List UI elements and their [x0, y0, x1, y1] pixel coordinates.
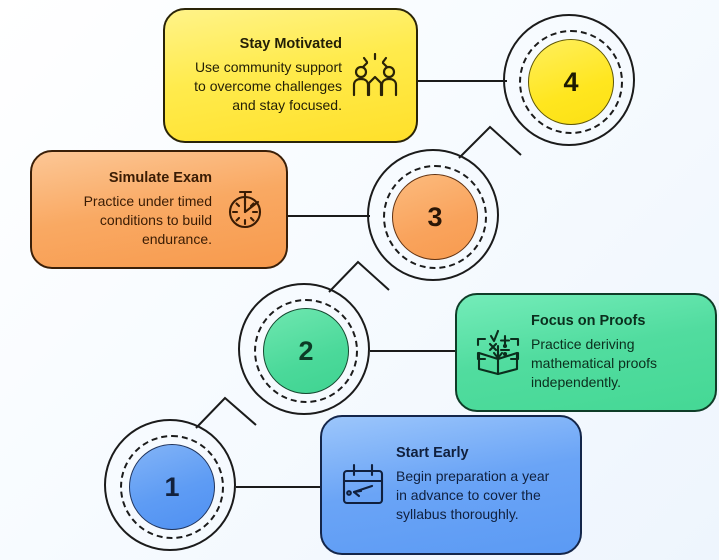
step-card-title: Start Early: [396, 444, 564, 462]
node-number-4: 4: [528, 39, 614, 125]
step-card-focus-on-proofs[interactable]: Focus on Proofs Practice deriving mathem…: [455, 293, 717, 412]
step-card-text: Simulate Exam Practice under timed condi…: [48, 169, 212, 249]
step-node-1[interactable]: 1: [104, 419, 240, 555]
step-card-text: Focus on Proofs Practice deriving mathem…: [531, 312, 699, 392]
step-card-body: Practice under timed conditions to build…: [48, 192, 212, 249]
step-card-title: Focus on Proofs: [531, 312, 699, 330]
infographic-canvas: Stay Motivated Use community support to …: [0, 0, 719, 560]
node-number-1: 1: [129, 444, 215, 530]
step-node-2[interactable]: 2: [238, 283, 374, 419]
step-card-start-early[interactable]: Start Early Begin preparation a year in …: [320, 415, 582, 555]
step-card-body: Begin preparation a year in advance to c…: [396, 467, 564, 524]
stopwatch-icon: [220, 184, 270, 234]
step-card-title: Simulate Exam: [48, 169, 212, 187]
step-card-body: Use community support to overcome challe…: [181, 58, 342, 115]
calendar-icon: [338, 459, 388, 509]
math-book-icon: [473, 327, 523, 377]
node-number-2: 2: [263, 308, 349, 394]
step-node-3[interactable]: 3: [367, 149, 503, 285]
step-card-body: Practice deriving mathematical proofs in…: [531, 335, 699, 392]
step-card-simulate-exam[interactable]: Simulate Exam Practice under timed condi…: [30, 150, 288, 269]
step-card-text: Stay Motivated Use community support to …: [181, 35, 342, 115]
step-node-4[interactable]: 4: [503, 14, 639, 150]
celebration-people-icon: [350, 50, 400, 100]
step-card-text: Start Early Begin preparation a year in …: [396, 444, 564, 524]
step-card-stay-motivated[interactable]: Stay Motivated Use community support to …: [163, 8, 418, 143]
node-number-3: 3: [392, 174, 478, 260]
step-card-title: Stay Motivated: [181, 35, 342, 53]
